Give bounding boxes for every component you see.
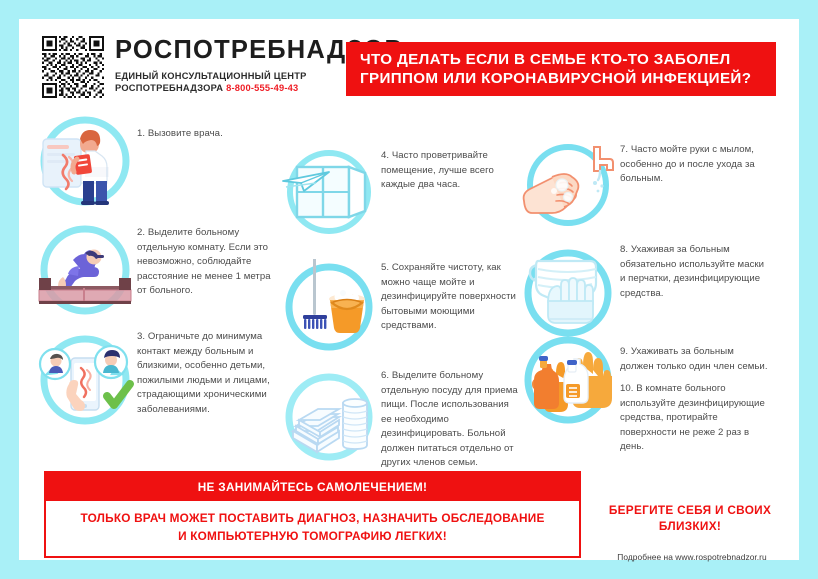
advice-item-1: 1. Вызовите врача. bbox=[33, 115, 281, 207]
advice-text-10: 10. В комнате больного используйте дезин… bbox=[620, 382, 770, 455]
open-window-airflow-icon bbox=[281, 147, 381, 237]
advice-text-3: 3. Ограничьте до минимума контакт между … bbox=[137, 330, 277, 417]
advice-text-4: 4. Часто проветривайте помещение, лучше … bbox=[381, 147, 521, 193]
advice-item-5: 5. Сохраняйте чистоту, как можно чаще мо… bbox=[281, 259, 531, 355]
title-line-1: ЧТО ДЕЛАТЬ ЕСЛИ В СЕМЬЕ КТО-ТО ЗАБОЛЕЛ bbox=[360, 50, 776, 69]
gloves-with-spray-bottles-icon bbox=[516, 330, 620, 430]
warning-header: НЕ ЗАНИМАЙТЕСЬ САМОЛЕЧЕНИЕМ! bbox=[46, 473, 579, 501]
hotline-phone-number: 8-800-555-49-43 bbox=[226, 83, 298, 93]
mop-and-bucket-icon bbox=[281, 259, 381, 355]
advice-text-8: 8. Ухаживая за больным обязательно испол… bbox=[620, 243, 770, 301]
care-message-line1: БЕРЕГИТЕ СЕБЯ И СВОИХ bbox=[597, 503, 783, 519]
advice-column-3: 7. Часто мойте руки с мылом, особенно до… bbox=[516, 115, 788, 447]
brand-subtitle-line1: ЕДИНЫЙ КОНСУЛЬТАЦИОННЫЙ ЦЕНТР bbox=[115, 71, 307, 81]
warning-body: ТОЛЬКО ВРАЧ МОЖЕТ ПОСТАВИТЬ ДИАГНОЗ, НАЗ… bbox=[46, 501, 579, 556]
advice-item-10: 10. В комнате больного используйте дезин… bbox=[516, 382, 788, 455]
advice-item-3: 3. Ограничьте до минимума контакт между … bbox=[33, 330, 281, 430]
poster-header: РОСПОТРЕБНАДЗОР ЕДИНЫЙ КОНСУЛЬТАЦИОННЫЙ … bbox=[19, 19, 799, 114]
advice-item-2: 2. Выделите больному отдельную комнату. … bbox=[33, 222, 281, 318]
advice-text-5: 5. Сохраняйте чистоту, как можно чаще мо… bbox=[381, 259, 521, 334]
phone-chat-bubbles-icon bbox=[33, 330, 137, 430]
person-in-bed-icon bbox=[33, 222, 137, 318]
doctor-with-clipboard-icon bbox=[33, 115, 137, 207]
advice-text-2: 2. Выделите больному отдельную комнату. … bbox=[137, 222, 277, 299]
advice-item-7: 7. Часто мойте руки с мылом, особенно до… bbox=[516, 139, 788, 235]
title-line-2: ГРИППОМ ИЛИ КОРОНАВИРУСНОЙ ИНФЕКЦИЕЙ? bbox=[360, 69, 776, 88]
title-banner: ЧТО ДЕЛАТЬ ЕСЛИ В СЕМЬЕ КТО-ТО ЗАБОЛЕЛ Г… bbox=[346, 42, 776, 96]
mask-and-gloves-icon bbox=[516, 243, 620, 343]
advice-column-1: 1. Вызовите врача. bbox=[33, 115, 281, 447]
care-message-line2: БЛИЗКИХ! bbox=[597, 519, 783, 535]
warning-box: НЕ ЗАНИМАЙТЕСЬ САМОЛЕЧЕНИЕМ! ТОЛЬКО ВРАЧ… bbox=[44, 471, 581, 558]
warning-body-line1: ТОЛЬКО ВРАЧ МОЖЕТ ПОСТАВИТЬ ДИАГНОЗ, НАЗ… bbox=[80, 511, 544, 525]
advice-item-8: 8. Ухаживая за больным обязательно испол… bbox=[516, 243, 788, 343]
advice-item-4: 4. Часто проветривайте помещение, лучше … bbox=[281, 147, 531, 237]
care-message: БЕРЕГИТЕ СЕБЯ И СВОИХ БЛИЗКИХ! bbox=[597, 503, 783, 535]
warning-body-line2: И КОМПЬЮТЕРНУЮ ТОМОГРАФИЮ ЛЕГКИХ! bbox=[178, 529, 447, 543]
handwashing-tap-icon bbox=[516, 139, 620, 235]
advice-text-9: 9. Ухаживать за больным должен только од… bbox=[620, 345, 770, 374]
poster-card: РОСПОТРЕБНАДЗОР ЕДИНЫЙ КОНСУЛЬТАЦИОННЫЙ … bbox=[19, 19, 799, 560]
advice-text-1: 1. Вызовите врача. bbox=[137, 115, 273, 142]
poster-footer: НЕ ЗАНИМАЙТЕСЬ САМОЛЕЧЕНИЕМ! ТОЛЬКО ВРАЧ… bbox=[19, 449, 799, 560]
qr-code-icon bbox=[42, 36, 104, 98]
advice-text-7: 7. Часто мойте руки с мылом, особенно до… bbox=[620, 139, 770, 187]
advice-column-2: 4. Часто проветривайте помещение, лучше … bbox=[281, 115, 531, 447]
brand-subtitle-line2: РОСПОТРЕБНАДЗОРА bbox=[115, 83, 223, 93]
advice-columns: 1. Вызовите врача. bbox=[19, 115, 799, 447]
more-info-link[interactable]: Подробнее на www.rospotrebnadzor.ru bbox=[597, 552, 787, 562]
